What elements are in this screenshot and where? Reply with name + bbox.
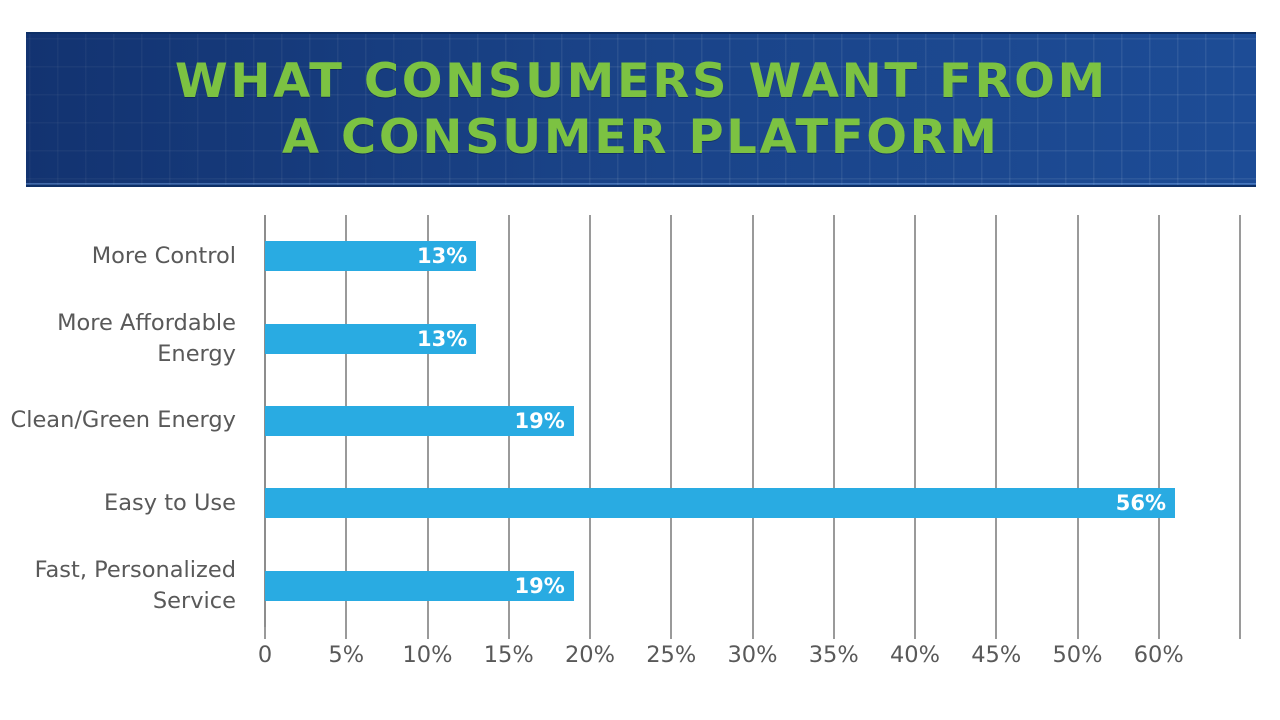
category-label-line: More Affordable	[0, 308, 236, 339]
axis-tick-mark	[589, 627, 591, 639]
plot-wrapper: More ControlMore AffordableEnergyClean/G…	[0, 215, 1280, 627]
bar-value-label: 13%	[417, 244, 476, 268]
axis-tick-label: 15%	[484, 642, 534, 668]
category-label: Easy to Use	[0, 462, 250, 544]
gridline	[1158, 215, 1160, 627]
plot-area: 13%13%19%56%19%	[265, 215, 1240, 627]
axis-tick-label: 45%	[971, 642, 1021, 668]
bar[interactable]: 19%	[265, 406, 574, 436]
axis-tick-mark	[1239, 627, 1241, 639]
axis-tick-label: 40%	[890, 642, 940, 668]
bar[interactable]: 56%	[265, 488, 1175, 518]
axis-tick-label: 10%	[402, 642, 452, 668]
gridline	[752, 215, 754, 627]
bar-value-label: 56%	[1116, 491, 1175, 515]
category-label: Clean/Green Energy	[0, 380, 250, 462]
bar-value-label: 19%	[514, 574, 573, 598]
axis-tick-mark	[1077, 627, 1079, 639]
category-label-line: More Control	[0, 241, 236, 272]
category-label: Fast, PersonalizedService	[0, 545, 250, 627]
axis-tick-label: 0	[258, 642, 272, 668]
category-label-line: Service	[0, 586, 236, 617]
category-label: More AffordableEnergy	[0, 297, 250, 379]
gridline	[914, 215, 916, 627]
gridline	[833, 215, 835, 627]
bar-value-label: 19%	[514, 409, 573, 433]
category-label-line: Easy to Use	[0, 488, 236, 519]
axis-tick-mark	[264, 627, 266, 639]
category-label: More Control	[0, 215, 250, 297]
title-banner: WHAT CONSUMERS WANT FROM A CONSUMER PLAT…	[26, 32, 1256, 187]
gridline	[670, 215, 672, 627]
axis-tick-label: 5%	[328, 642, 364, 668]
bar[interactable]: 13%	[265, 241, 476, 271]
axis-tick-mark	[427, 627, 429, 639]
category-label-line: Fast, Personalized	[0, 555, 236, 586]
bar-chart: More ControlMore AffordableEnergyClean/G…	[0, 205, 1280, 675]
axis-tick-mark	[1158, 627, 1160, 639]
axis-tick-label: 60%	[1134, 642, 1184, 668]
axis-tick-label: 50%	[1052, 642, 1102, 668]
title-line-1: WHAT CONSUMERS WANT FROM	[174, 54, 1107, 110]
gridline	[1077, 215, 1079, 627]
axis-tick-mark	[833, 627, 835, 639]
bar[interactable]: 13%	[265, 324, 476, 354]
axis-tick-mark	[914, 627, 916, 639]
axis-tick-mark	[670, 627, 672, 639]
gridline	[1239, 215, 1241, 627]
axis-tick-mark	[995, 627, 997, 639]
axis-tick-label: 30%	[727, 642, 777, 668]
gridline	[589, 215, 591, 627]
category-label-line: Clean/Green Energy	[0, 405, 236, 436]
value-axis: 05%10%15%20%25%30%35%40%45%50%60%	[265, 627, 1240, 673]
axis-tick-mark	[345, 627, 347, 639]
bar-value-label: 13%	[417, 327, 476, 351]
category-axis-labels: More ControlMore AffordableEnergyClean/G…	[0, 215, 250, 627]
title-line-2: A CONSUMER PLATFORM	[282, 110, 1000, 166]
bar[interactable]: 19%	[265, 571, 574, 601]
axis-tick-mark	[752, 627, 754, 639]
axis-tick-label: 20%	[565, 642, 615, 668]
axis-tick-mark	[508, 627, 510, 639]
axis-tick-label: 35%	[809, 642, 859, 668]
gridline	[995, 215, 997, 627]
axis-tick-label: 25%	[646, 642, 696, 668]
category-label-line: Energy	[0, 339, 236, 370]
